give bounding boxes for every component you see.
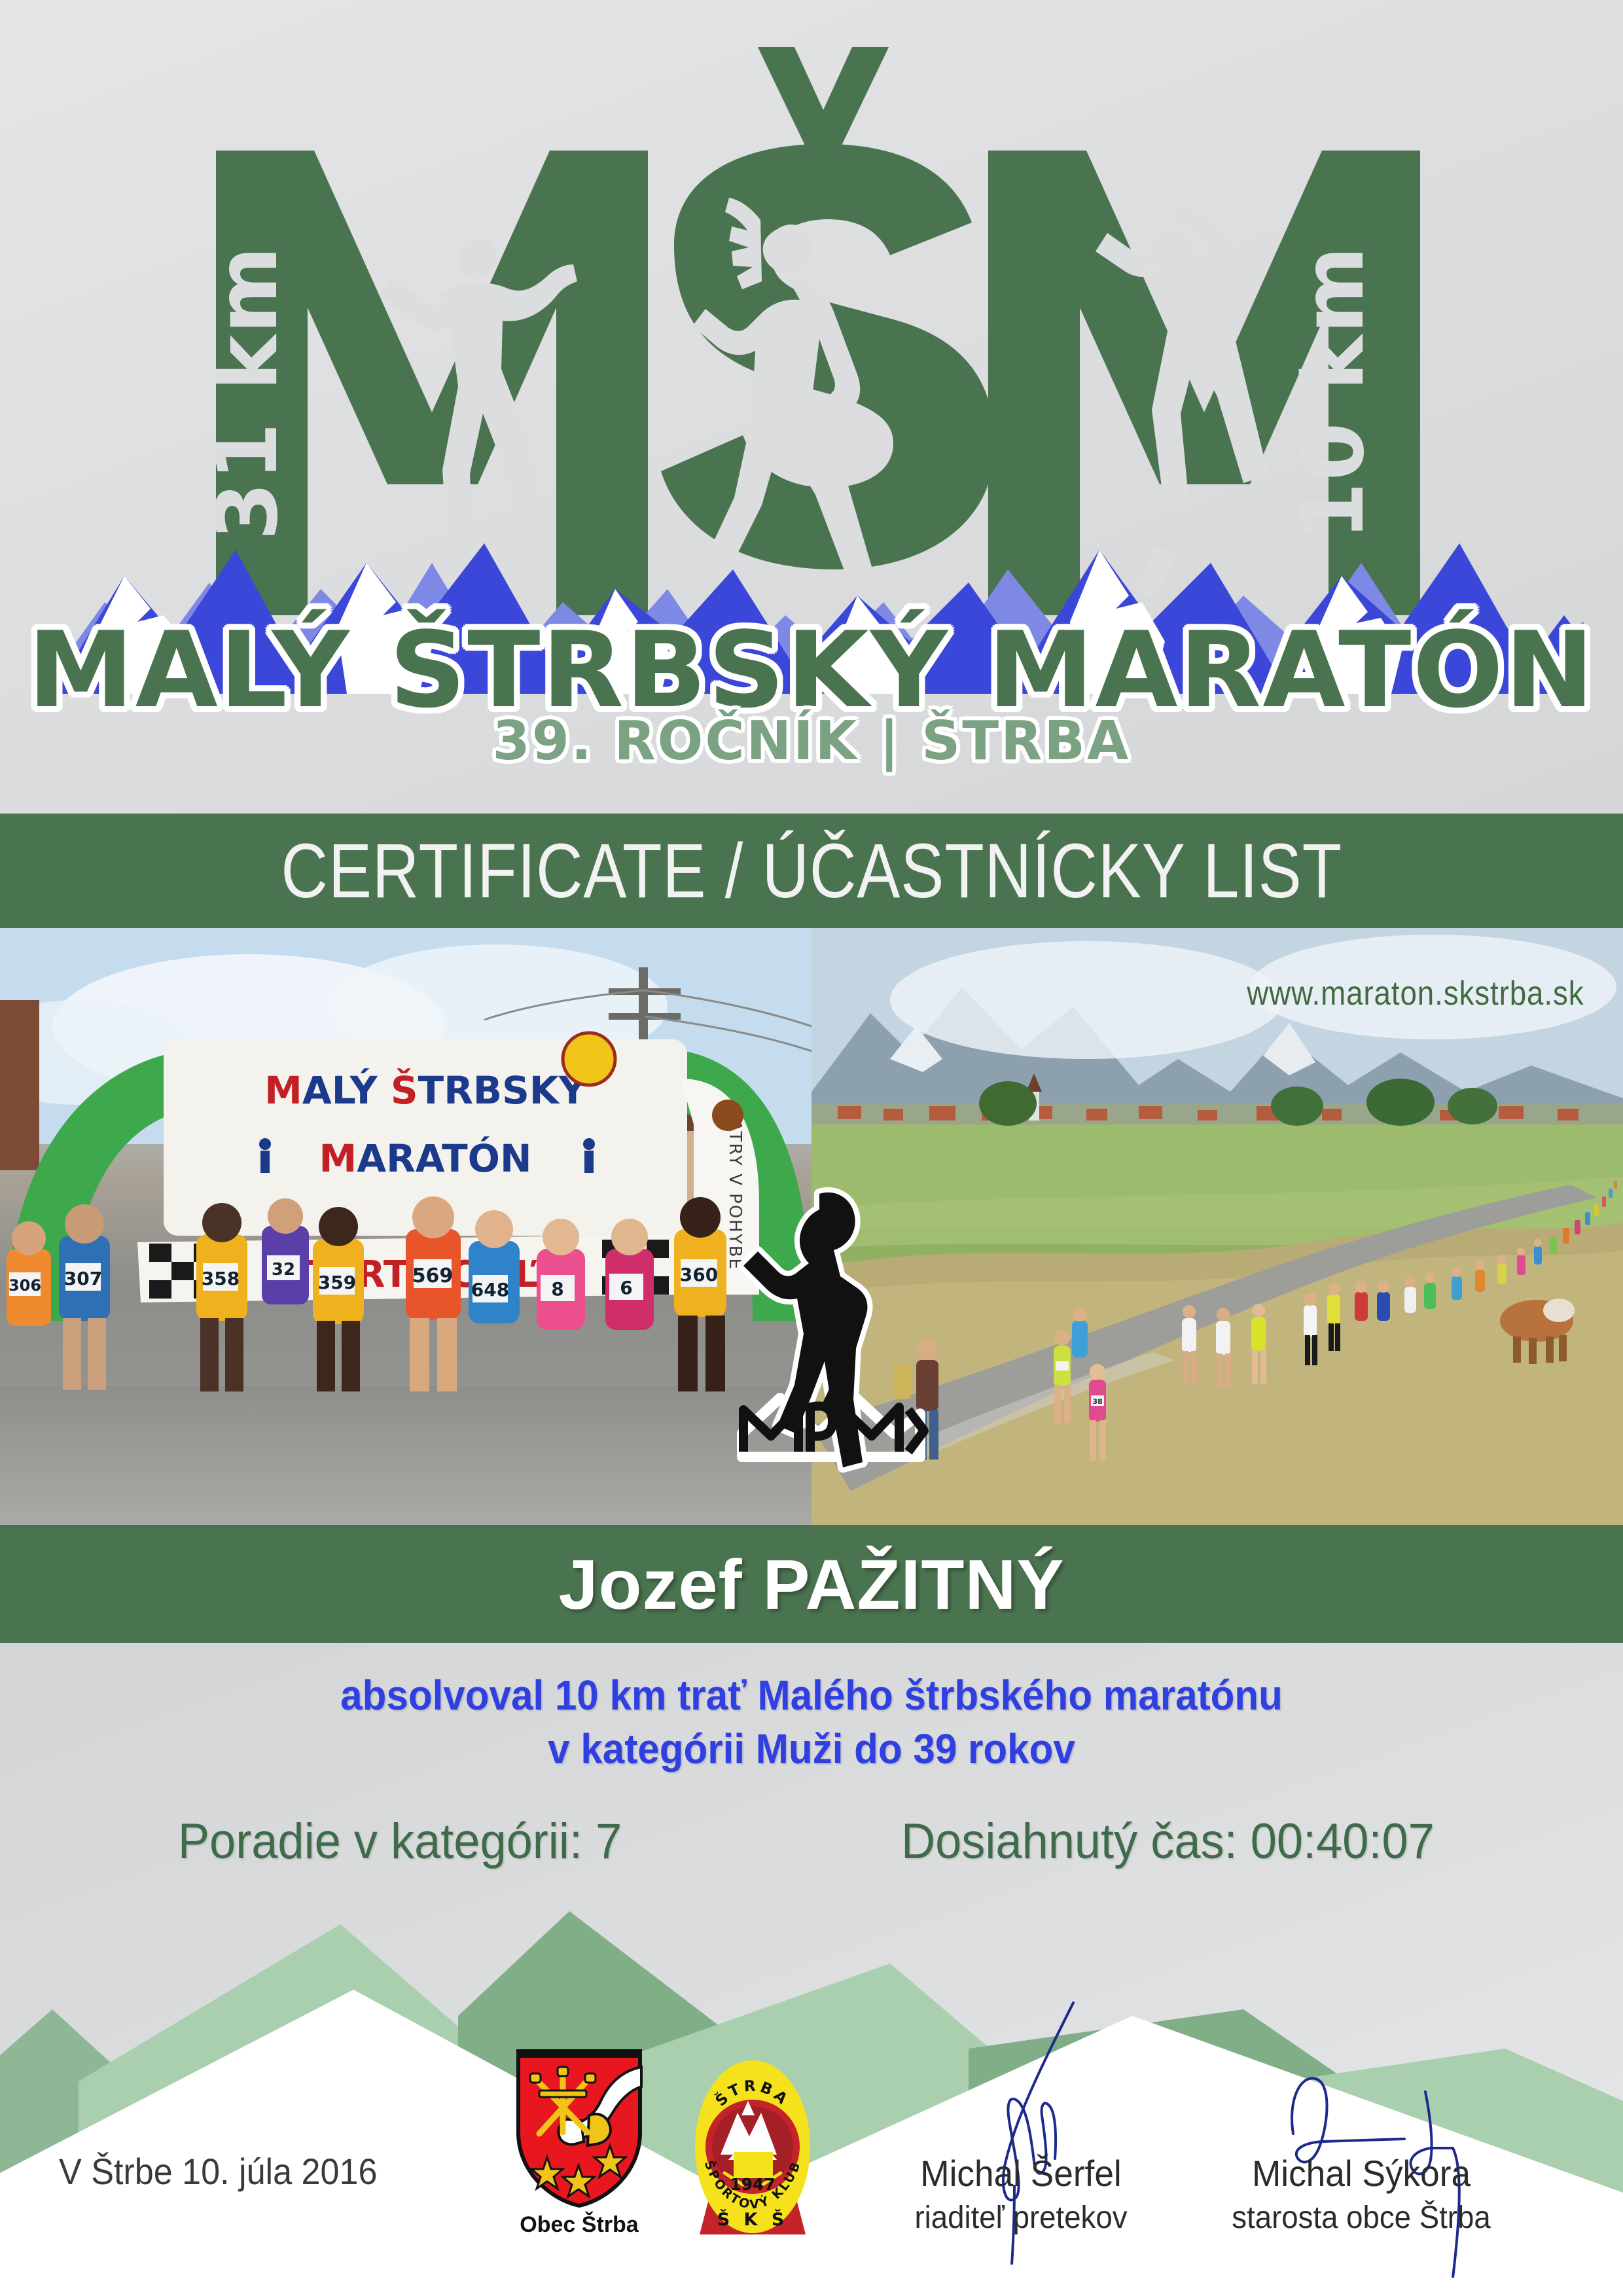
svg-text:359: 359 xyxy=(318,1272,356,1293)
svg-text:32: 32 xyxy=(272,1260,295,1280)
signatory-role: starosta obce Štrba xyxy=(1187,2200,1535,2236)
svg-text:10 km: 10 km xyxy=(1285,245,1383,540)
participant-name: Jozef PAŽITNÝ xyxy=(558,1543,1064,1625)
description-line-1: absolvoval 10 km trať Malého štrbského m… xyxy=(48,1669,1574,1723)
signatory-role: riaditeľ pretekov xyxy=(847,2200,1195,2236)
svg-text:358: 358 xyxy=(202,1268,240,1289)
category-rank: Poradie v kategórii: 7 xyxy=(22,1813,830,1870)
sks-initials: Š K Š xyxy=(717,2209,789,2230)
signatory-block-sykora: Michal Sýkora starosta obce Štrba xyxy=(1178,2081,1544,2236)
obec-strba-coat-of-arms: Obec Štrba xyxy=(510,2047,648,2244)
signatory-block-serfel: Michal Šerfel riaditeľ pretekov xyxy=(838,2081,1204,2236)
sks-club-emblem: ŠTRBA ŠPORTOVÝ KLUB 1947 Š K Š xyxy=(677,2050,828,2246)
certificate-title-band: CERTIFICATE / ÚČASTNÍCKY LIST xyxy=(0,814,1623,928)
msm-runner-overlay-logo xyxy=(733,1177,929,1478)
description-block: absolvoval 10 km trať Malého štrbského m… xyxy=(0,1669,1623,1776)
arch-line1: MALÝ ŠTRBSKÝ xyxy=(264,1067,587,1113)
description-line-2: v kategórii Muži do 39 rokov xyxy=(48,1723,1574,1776)
certificate-page: 31 km 10 km xyxy=(0,0,1623,2296)
finish-time: Dosiahnutý čas: 00:40:07 xyxy=(870,1813,1604,1870)
svg-text:307: 307 xyxy=(64,1268,102,1289)
logo-area: 31 km 10 km xyxy=(0,0,1623,814)
svg-text:306: 306 xyxy=(9,1276,41,1295)
obec-strba-caption: Obec Štrba xyxy=(510,2212,648,2238)
signatory-name: Michal Šerfel xyxy=(847,2152,1195,2195)
start-line-photo: MALÝ ŠTRBSKÝ MARATÓN xyxy=(0,928,811,1525)
svg-text:31 km: 31 km xyxy=(216,245,296,540)
arch-line2: MARATÓN xyxy=(319,1136,531,1181)
photo-band: MALÝ ŠTRBSKÝ MARATÓN xyxy=(0,928,1623,1525)
svg-text:38: 38 xyxy=(1092,1397,1102,1406)
certificate-title: CERTIFICATE / ÚČASTNÍCKY LIST xyxy=(281,827,1342,916)
course-photo: 38 xyxy=(811,928,1623,1525)
svg-text:569: 569 xyxy=(412,1265,454,1287)
svg-text:648: 648 xyxy=(471,1279,509,1300)
result-row: Poradie v kategórii: 7 Dosiahnutý čas: 0… xyxy=(0,1813,1623,1870)
website-url[interactable]: www.maraton.skstrba.sk xyxy=(1247,974,1584,1013)
logo-subtitle: 39. ROČNÍK | ŠTRBA xyxy=(0,710,1623,772)
svg-text:8: 8 xyxy=(551,1278,563,1300)
sks-year: 1947 xyxy=(730,2175,776,2194)
footer: V Štrbe 10. júla 2016 xyxy=(0,2081,1623,2296)
participant-name-band: Jozef PAŽITNÝ xyxy=(0,1525,1623,1643)
issue-date: V Štrbe 10. júla 2016 xyxy=(59,2150,377,2193)
signatory-name: Michal Sýkora xyxy=(1187,2152,1535,2195)
svg-text:6: 6 xyxy=(620,1277,632,1299)
svg-text:360: 360 xyxy=(680,1264,718,1285)
